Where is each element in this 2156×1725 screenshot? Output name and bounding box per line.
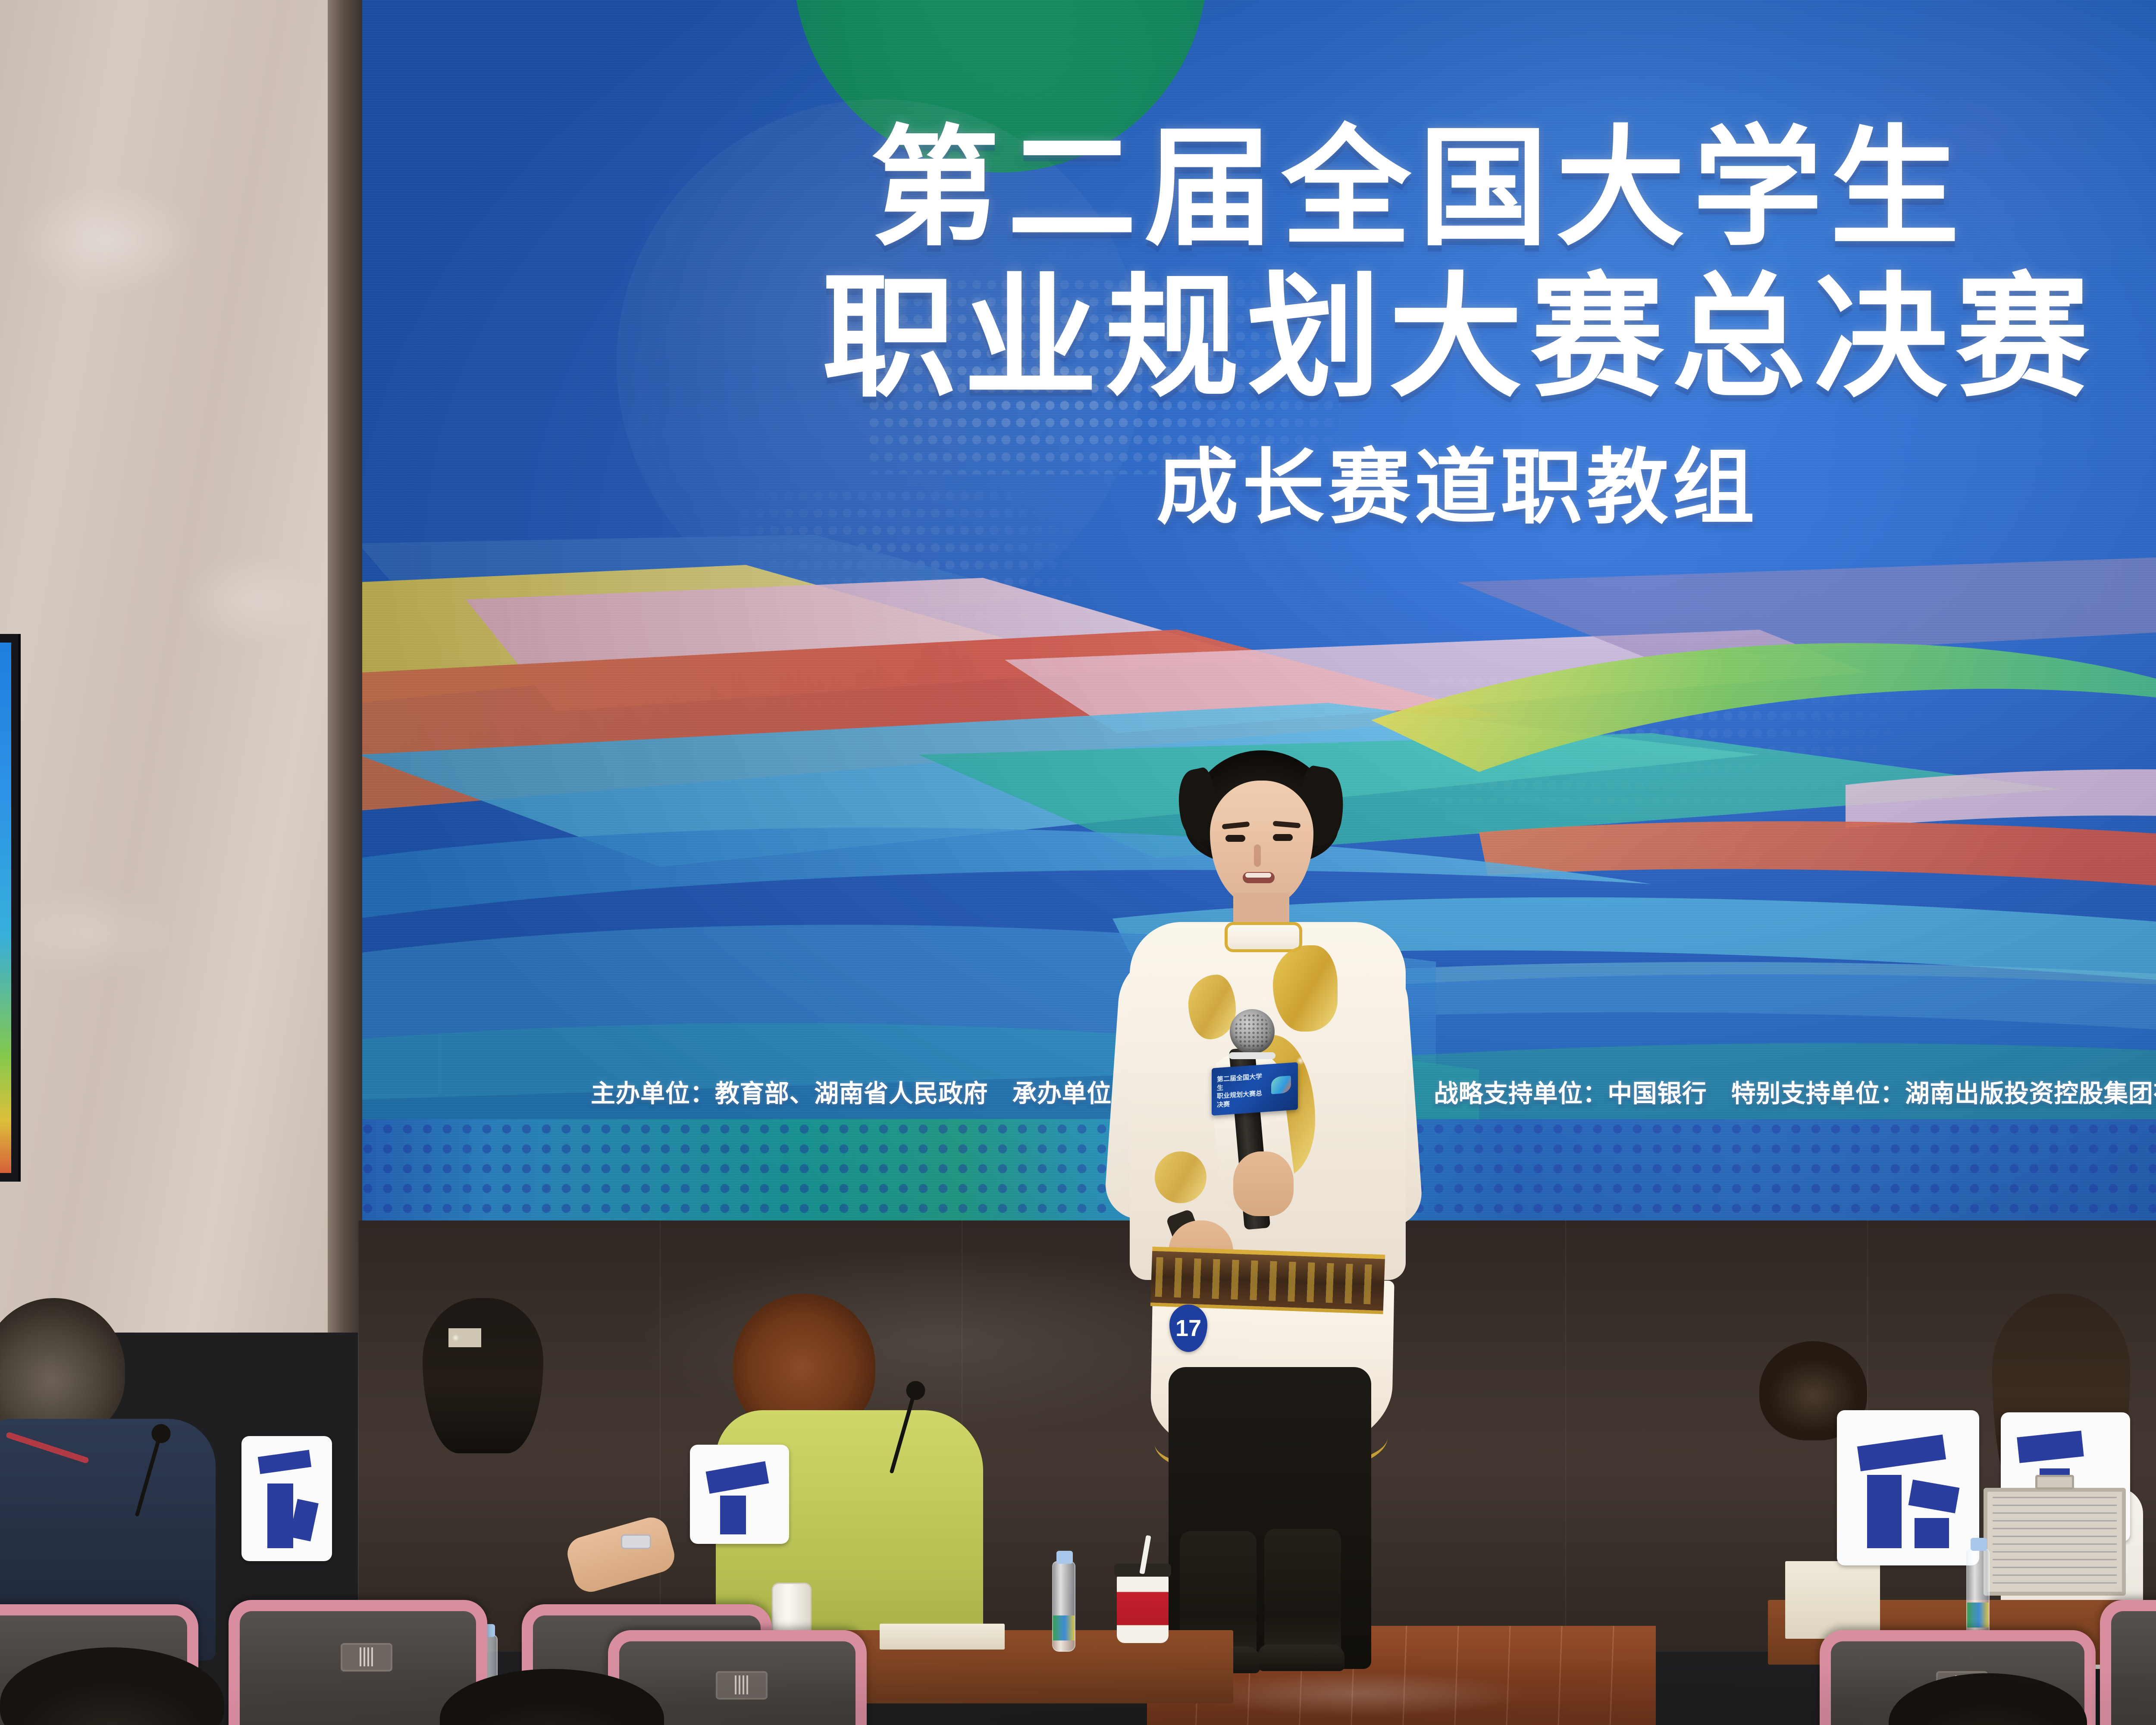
stage-photo-scene: 第二届全国大学生 职业规划大赛总决赛 成长赛道职教组 全国 主办单位：教育部、湖…: [0, 0, 2156, 1725]
fan-sign-mid: [690, 1445, 789, 1544]
coffee-cup: [1117, 1574, 1169, 1643]
side-monitor-screen: [0, 643, 11, 1173]
water-bottle-3: [1966, 1548, 1990, 1639]
fan-sign-right-1: [1837, 1410, 1979, 1565]
microphone-ring: [1229, 1052, 1275, 1059]
speaker-eye-right: [1273, 834, 1293, 841]
microphone-head-icon: [1230, 1009, 1275, 1054]
microphone-flag-text: 第二届全国大学生 职业规划大赛总决赛: [1217, 1072, 1264, 1109]
speaker-nose: [1254, 844, 1261, 867]
left-wall-marble: [0, 0, 358, 1333]
speaker-collar: [1225, 922, 1302, 952]
microphone-flag: 第二届全国大学生 职业规划大赛总决赛: [1212, 1062, 1298, 1116]
left-wall-edge: [328, 0, 362, 1333]
event-title-line-1: 第二届全国大学生: [358, 0, 2156, 253]
attendee-arm: [564, 1513, 679, 1596]
wrist-watch: [621, 1534, 651, 1549]
event-subtitle: 成长赛道职教组: [358, 405, 2156, 529]
audience-foreground-shadow: [0, 1656, 2156, 1725]
sponsor-organizer: 主办单位：教育部、湖南省人民政府: [591, 1080, 988, 1107]
judge-nameplate-left: [880, 1624, 1005, 1650]
microphone-flag-logo: [1271, 1076, 1291, 1094]
laptop-clipboard-clip: [2035, 1475, 2074, 1490]
gold-embroidery-3: [1188, 975, 1236, 1039]
water-bottle-1: [1052, 1561, 1075, 1652]
speaker-teeth: [1245, 873, 1271, 878]
gold-embroidery-4: [1155, 1151, 1206, 1203]
speaker-eye-left: [1225, 835, 1245, 842]
attendee-ponytail-head: [423, 1298, 543, 1453]
judge-nameplate-right: [1785, 1561, 1880, 1639]
speaker-hand-right: [1233, 1151, 1294, 1216]
sponsor-strategic: 战略支持单位：中国银行: [1434, 1080, 1707, 1107]
sponsor-special-support: 特别支持单位：湖南出版投资控股集团有限公司、三一集团有限公司: [1731, 1080, 2156, 1107]
hair-clip: [448, 1328, 481, 1347]
event-title-line-2: 职业规划大赛总决赛: [358, 253, 2156, 405]
audience-area: [0, 1302, 2156, 1725]
speaker-face: [1210, 781, 1313, 906]
led-title-block: 第二届全国大学生 职业规划大赛总决赛 成长赛道职教组: [358, 0, 2156, 529]
fan-sign-left: [241, 1436, 332, 1561]
laptop-screen: [1984, 1488, 2126, 1596]
